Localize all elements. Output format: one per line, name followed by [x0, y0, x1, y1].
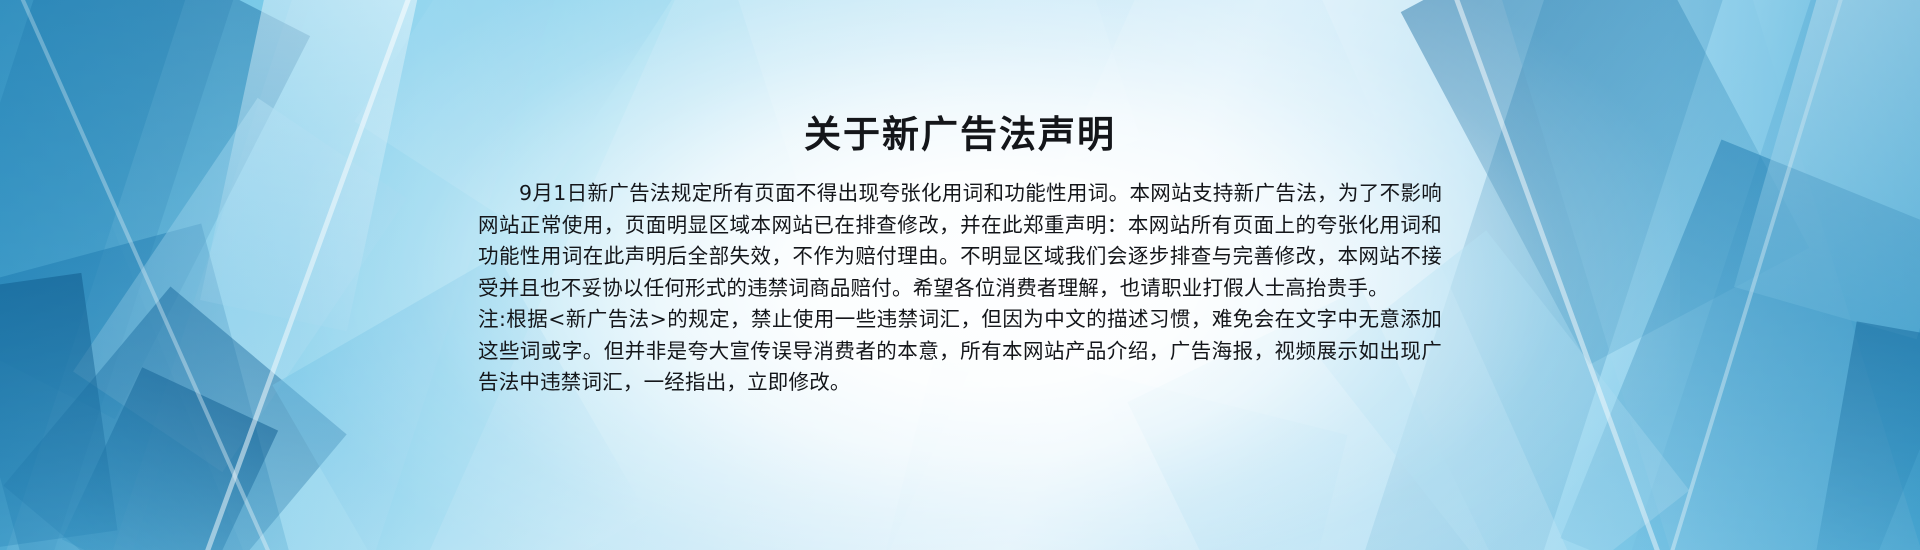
statement-body: 9月1日新广告法规定所有页面不得出现夸张化用词和功能性用词。本网站支持新广告法，… — [478, 178, 1442, 399]
statement-content: 关于新广告法声明 9月1日新广告法规定所有页面不得出现夸张化用词和功能性用词。本… — [0, 0, 1920, 550]
statement-paragraph-main: 9月1日新广告法规定所有页面不得出现夸张化用词和功能性用词。本网站支持新广告法，… — [478, 178, 1442, 304]
statement-paragraph-note: 注:根据<新广告法>的规定，禁止使用一些违禁词汇，但因为中文的描述习惯，难免会在… — [478, 304, 1442, 399]
advertising-law-statement-banner: 关于新广告法声明 9月1日新广告法规定所有页面不得出现夸张化用词和功能性用词。本… — [0, 0, 1920, 550]
page-title: 关于新广告法声明 — [0, 113, 1920, 157]
